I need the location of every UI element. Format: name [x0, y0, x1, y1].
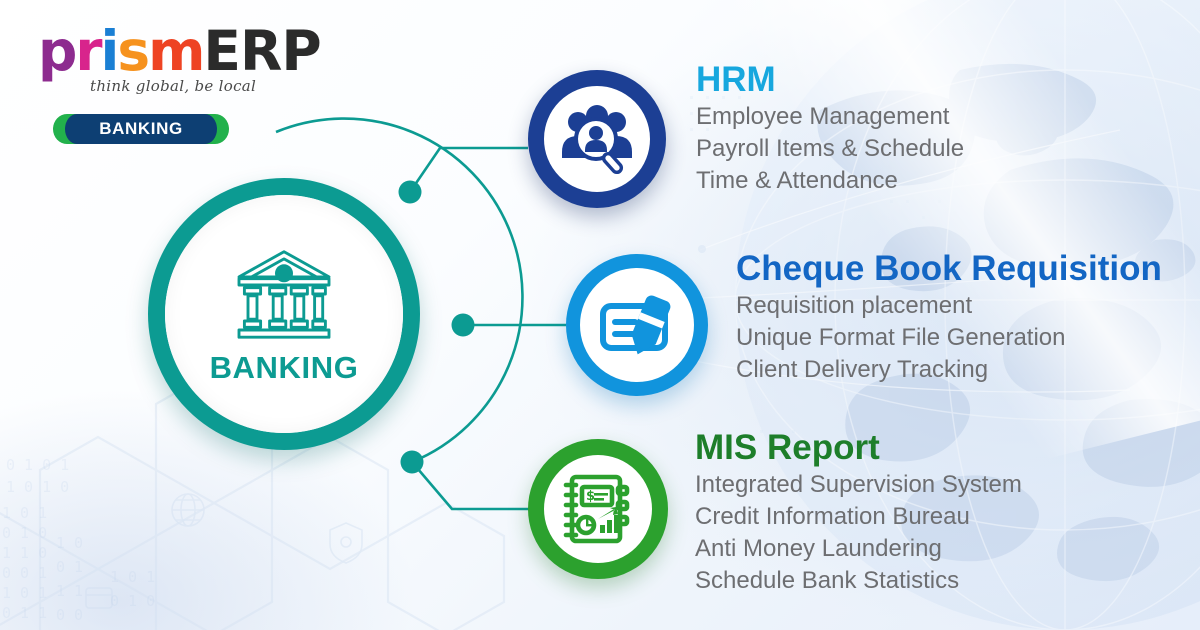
- hrm-icon-badge[interactable]: [528, 70, 666, 208]
- mis-text-block: MIS Report Integrated Supervision System…: [695, 430, 1022, 598]
- banking-badge: BANKING: [53, 114, 229, 144]
- mis-icon-badge[interactable]: $: [528, 439, 668, 579]
- list-item: Credit Information Bureau: [695, 501, 1022, 533]
- connector-mis: [412, 462, 540, 509]
- hub-banking[interactable]: BANKING: [148, 178, 420, 450]
- svg-text:1 1 0: 1 1 0: [2, 544, 47, 562]
- hrm-title: HRM: [696, 62, 964, 98]
- node-mis-report[interactable]: $ MIS Report Integrated Supervision Syst…: [528, 439, 678, 589]
- cheque-icon-badge[interactable]: [566, 254, 708, 396]
- ledger-report-icon: $: [560, 469, 636, 549]
- connector-dot-mis: [401, 451, 424, 474]
- svg-text:1 1: 1 1: [56, 582, 83, 600]
- svg-text:0 1 0: 0 1 0: [110, 592, 155, 610]
- cheque-item-list: Requisition placement Unique Format File…: [736, 290, 1162, 386]
- cheque-title: Cheque Book Requisition: [736, 251, 1162, 287]
- node-hrm[interactable]: HRM Employee Management Payroll Items & …: [528, 70, 678, 220]
- mis-item-list: Integrated Supervision System Credit Inf…: [695, 469, 1022, 597]
- hrm-text-block: HRM Employee Management Payroll Items & …: [696, 62, 964, 197]
- svg-text:0 1: 0 1: [56, 558, 83, 576]
- node-cheque-book-requisition[interactable]: Cheque Book Requisition Requisition plac…: [566, 254, 716, 404]
- list-item: Requisition placement: [736, 290, 1162, 322]
- people-search-icon: [558, 100, 636, 178]
- list-item: Unique Format File Generation: [736, 322, 1162, 354]
- list-item: Client Delivery Tracking: [736, 354, 1162, 386]
- list-item: Anti Money Laundering: [695, 533, 1022, 565]
- svg-text:0 0 1: 0 0 1: [2, 564, 47, 582]
- svg-text:1 0 1: 1 0 1: [2, 584, 47, 602]
- svg-text:0 1 1: 0 1 1: [2, 604, 47, 622]
- svg-text:1 0 1: 1 0 1: [110, 568, 155, 586]
- connector-dot-cheque: [452, 314, 475, 337]
- infographic-canvas: 1 0 10 1 0 1 1 00 0 1 1 0 10 1 1 1 00 1 …: [0, 0, 1200, 630]
- hub-inner: BANKING: [165, 195, 403, 433]
- bank-building-icon: [230, 246, 338, 342]
- svg-text:0 0: 0 0: [56, 606, 83, 624]
- hub-label: BANKING: [210, 350, 359, 386]
- list-item: Time & Attendance: [696, 165, 964, 197]
- svg-text:0 1 0 1: 0 1 0 1: [6, 456, 69, 474]
- list-item: Payroll Items & Schedule: [696, 133, 964, 165]
- logo-wordmark: prismERP: [38, 24, 321, 79]
- svg-text:0 1 0: 0 1 0: [2, 524, 47, 542]
- list-item: Employee Management: [696, 101, 964, 133]
- svg-text:1 0: 1 0: [56, 534, 83, 552]
- svg-text:$: $: [586, 489, 595, 504]
- list-item: Schedule Bank Statistics: [695, 565, 1022, 597]
- cheque-pen-icon: [596, 286, 678, 364]
- mis-title: MIS Report: [695, 430, 1022, 466]
- list-item: Integrated Supervision System: [695, 469, 1022, 501]
- badge-label: BANKING: [53, 114, 229, 144]
- svg-text:1 0 1: 1 0 1: [2, 504, 47, 522]
- svg-text:1 0 1 0: 1 0 1 0: [6, 478, 69, 496]
- cheque-text-block: Cheque Book Requisition Requisition plac…: [736, 251, 1162, 386]
- connector-hrm: [410, 148, 528, 192]
- hrm-item-list: Employee Management Payroll Items & Sche…: [696, 101, 964, 197]
- brand-logo: prismERP think global, be local: [38, 24, 321, 95]
